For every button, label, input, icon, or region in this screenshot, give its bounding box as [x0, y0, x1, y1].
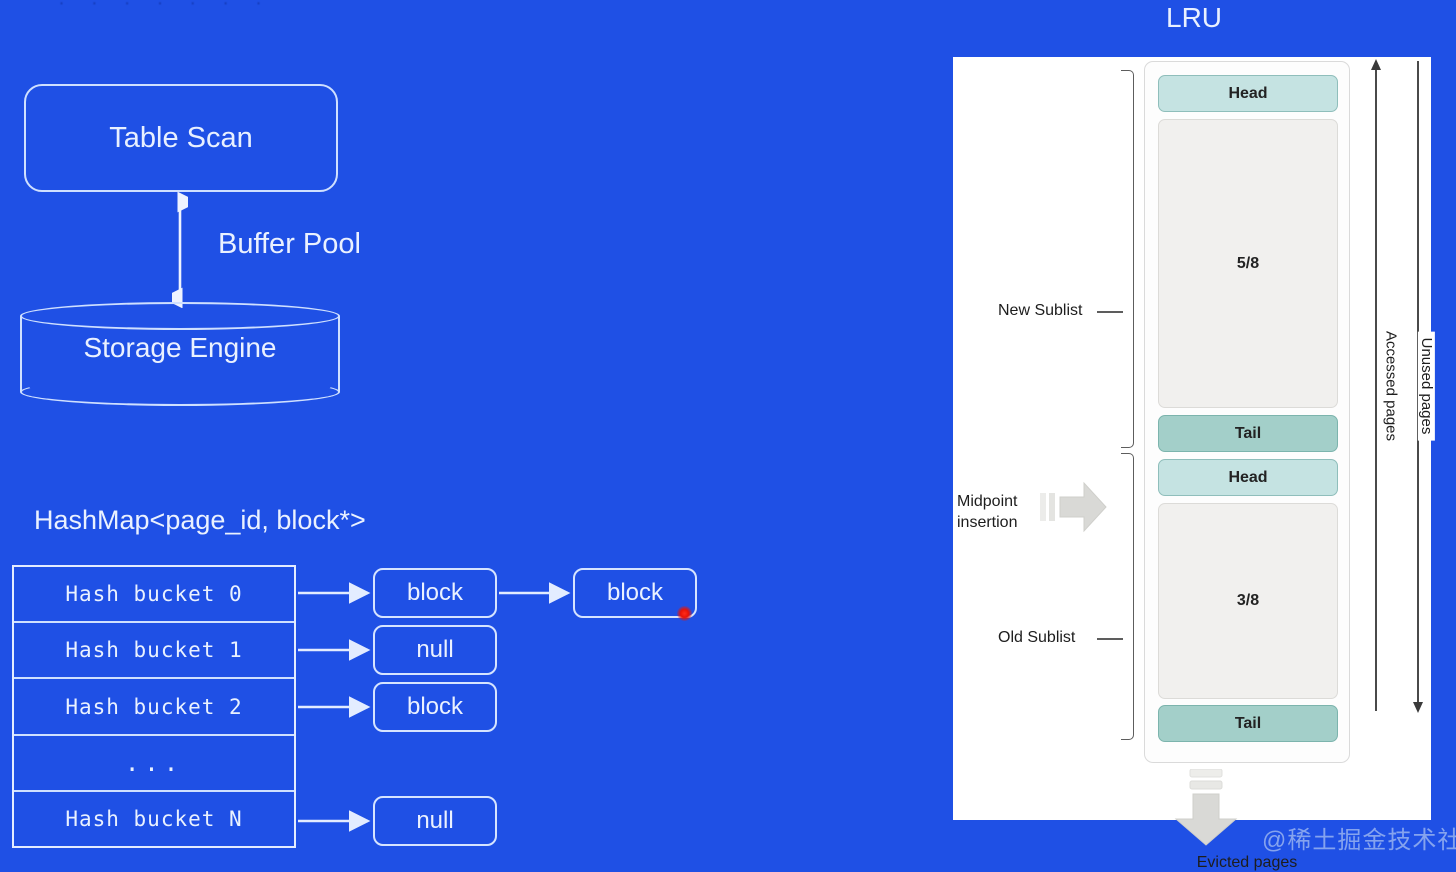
evicted-pages-label: Evicted pages: [1168, 854, 1326, 872]
accessed-pages-label: Accessed pages: [1383, 325, 1400, 447]
hashmap-title: HashMap<page_id, block*>: [34, 505, 366, 536]
hash-bucket-row[interactable]: Hash bucket 1: [14, 623, 294, 679]
old-sublist-head-box[interactable]: Head: [1158, 459, 1338, 496]
cropped-title-sliver: · · · · · · ·: [58, 0, 272, 15]
hash-bucket-row-ellipsis: ...: [14, 736, 294, 792]
lru-diagram-panel: New Sublist Old Sublist Midpoint inserti…: [953, 57, 1431, 820]
hash-bucket-table: Hash bucket 0 Hash bucket 1 Hash bucket …: [12, 565, 296, 848]
new-sublist-tail-label: Tail: [1235, 425, 1261, 443]
null-node-label: null: [416, 636, 453, 664]
old-sublist-fraction-label: 3/8: [1237, 592, 1259, 610]
old-sublist-body-box[interactable]: 3/8: [1158, 503, 1338, 699]
midpoint-insertion-label: Midpoint insertion: [957, 491, 1017, 533]
unused-pages-label: Unused pages: [1418, 332, 1435, 441]
accessed-pages-arrow-up-icon: [1369, 59, 1383, 73]
mouse-cursor-dot: [677, 606, 692, 621]
old-sublist-bracket: [1121, 453, 1134, 740]
buffer-pool-label: Buffer Pool: [218, 228, 361, 261]
midpoint-insertion-line1: Midpoint: [957, 491, 1017, 512]
new-sublist-tail-box[interactable]: Tail: [1158, 415, 1338, 452]
midpoint-insertion-arrow-icon: [1040, 479, 1108, 535]
block-node-box[interactable]: block: [373, 568, 497, 618]
hash-bucket-row[interactable]: Hash bucket 0: [14, 567, 294, 623]
cylinder-bottom-ellipse: [20, 378, 340, 406]
cylinder-top-ellipse: [20, 302, 340, 330]
null-node-box[interactable]: null: [373, 625, 497, 675]
table-scan-box: Table Scan: [24, 84, 338, 192]
block-node-box[interactable]: block: [373, 682, 497, 732]
storage-engine-label: Storage Engine: [20, 332, 340, 364]
new-sublist-head-box[interactable]: Head: [1158, 75, 1338, 112]
block-node-label: block: [407, 693, 463, 721]
lru-title: LRU: [1166, 2, 1222, 34]
accessed-pages-line: [1375, 61, 1377, 711]
old-sublist-tail-box[interactable]: Tail: [1158, 705, 1338, 742]
slide-canvas: · · · · · · · Table Scan Buffer Pool Sto…: [0, 0, 1456, 862]
buffer-pool-double-arrow: [172, 192, 188, 308]
old-sublist-tick: [1097, 638, 1123, 640]
new-sublist-tick: [1097, 311, 1123, 313]
block-node-label: block: [407, 579, 463, 607]
new-sublist-head-label: Head: [1228, 85, 1267, 103]
storage-engine-cylinder: Storage Engine: [20, 302, 340, 406]
new-sublist-body-box[interactable]: 5/8: [1158, 119, 1338, 408]
null-node-label: null: [416, 807, 453, 835]
old-sublist-tail-label: Tail: [1235, 715, 1261, 733]
table-scan-label: Table Scan: [109, 122, 253, 155]
new-sublist-bracket: [1121, 70, 1134, 448]
evicted-pages-arrow-icon: [1168, 769, 1244, 847]
new-sublist-label: New Sublist: [998, 302, 1082, 320]
unused-pages-arrow-down-icon: [1411, 699, 1425, 713]
watermark: @稀土掘金技术社区: [1262, 820, 1456, 855]
midpoint-insertion-line2: insertion: [957, 512, 1017, 533]
lru-list-container: Head 5/8 Tail Head 3/8 Tail: [1144, 61, 1350, 763]
null-node-box[interactable]: null: [373, 796, 497, 846]
hash-bucket-row[interactable]: Hash bucket N: [14, 792, 294, 846]
new-sublist-fraction-label: 5/8: [1237, 255, 1259, 273]
hash-bucket-row[interactable]: Hash bucket 2: [14, 679, 294, 735]
block-node-label: block: [607, 579, 663, 607]
old-sublist-label: Old Sublist: [998, 629, 1075, 647]
old-sublist-head-label: Head: [1228, 469, 1267, 487]
